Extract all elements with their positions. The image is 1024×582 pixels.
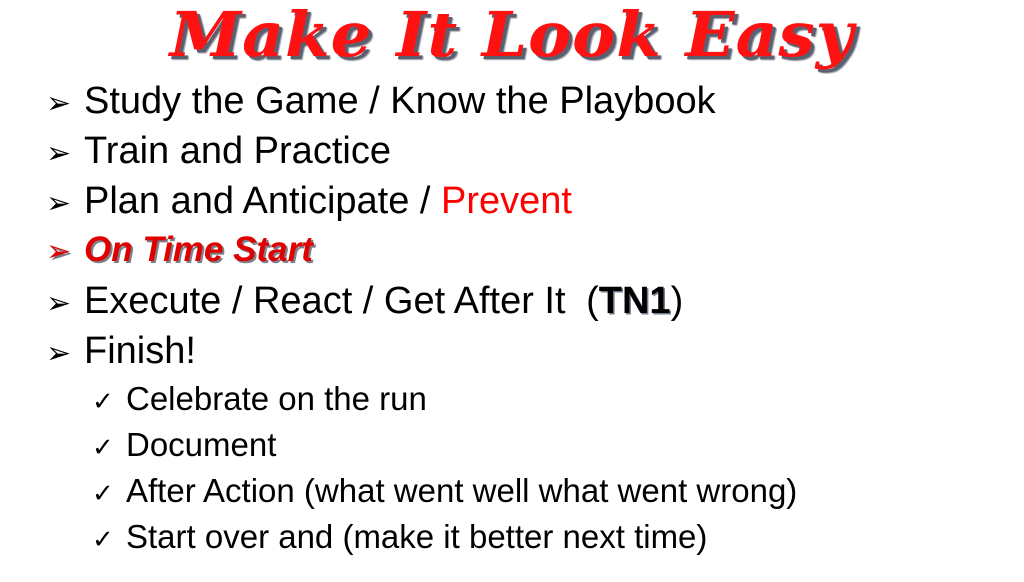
list-item: ➢ Train and Practice: [0, 132, 1024, 182]
list-item-label: Study the Game / Know the Playbook: [84, 82, 716, 122]
list-item-label: Finish!: [84, 332, 196, 372]
sub-list-item: ✓ Start over and (make it better next ti…: [0, 520, 1024, 566]
note-paren-close: ): [671, 280, 684, 322]
note-paren-open: (: [586, 280, 599, 322]
checkmark-bullet-icon: ✓: [92, 388, 126, 414]
arrow-bullet-icon: ➢: [46, 139, 84, 169]
list-item-label: Plan and Anticipate / Prevent: [84, 182, 572, 222]
list-item-label: Execute / React / Get After It (TN1): [84, 282, 683, 322]
arrow-bullet-icon: ➢: [46, 237, 84, 267]
list-item: ➢ Study the Game / Know the Playbook: [0, 82, 1024, 132]
arrow-bullet-icon: ➢: [46, 289, 84, 319]
list-item: ➢ Plan and Anticipate / Prevent: [0, 182, 1024, 232]
list-item-text-plain: Plan and Anticipate /: [84, 180, 441, 222]
note-tag: TN1: [599, 280, 671, 322]
slide-canvas: Make It Look Easy ➢ Study the Game / Kno…: [0, 0, 1024, 582]
checkmark-bullet-icon: ✓: [92, 526, 126, 552]
sub-list-item: ✓ Document: [0, 428, 1024, 474]
list-item: ➢ Execute / React / Get After It (TN1): [0, 282, 1024, 332]
list-item-text-accent: Prevent: [441, 180, 572, 222]
sub-list-item-label: Document: [126, 428, 276, 463]
arrow-bullet-icon: ➢: [46, 189, 84, 219]
sub-list-item-label: Celebrate on the run: [126, 382, 427, 417]
list-item: ➢ On Time Start: [0, 232, 1024, 282]
slide-title: Make It Look Easy: [0, 0, 1024, 74]
list-item-text-plain: Execute / React / Get After It: [84, 280, 576, 322]
list-item: ➢ Finish!: [0, 332, 1024, 382]
sub-list-item-label: After Action (what went well what went w…: [126, 474, 797, 509]
list-item-label: Train and Practice: [84, 132, 391, 172]
arrow-bullet-icon: ➢: [46, 339, 84, 369]
sub-list-item-label: Start over and (make it better next time…: [126, 520, 707, 555]
bullet-list: ➢ Study the Game / Know the Playbook ➢ T…: [0, 82, 1024, 566]
checkmark-bullet-icon: ✓: [92, 480, 126, 506]
sub-list-item: ✓ Celebrate on the run: [0, 382, 1024, 428]
arrow-bullet-icon: ➢: [46, 89, 84, 119]
list-item-label: On Time Start: [84, 232, 313, 269]
checkmark-bullet-icon: ✓: [92, 434, 126, 460]
sub-list-item: ✓ After Action (what went well what went…: [0, 474, 1024, 520]
